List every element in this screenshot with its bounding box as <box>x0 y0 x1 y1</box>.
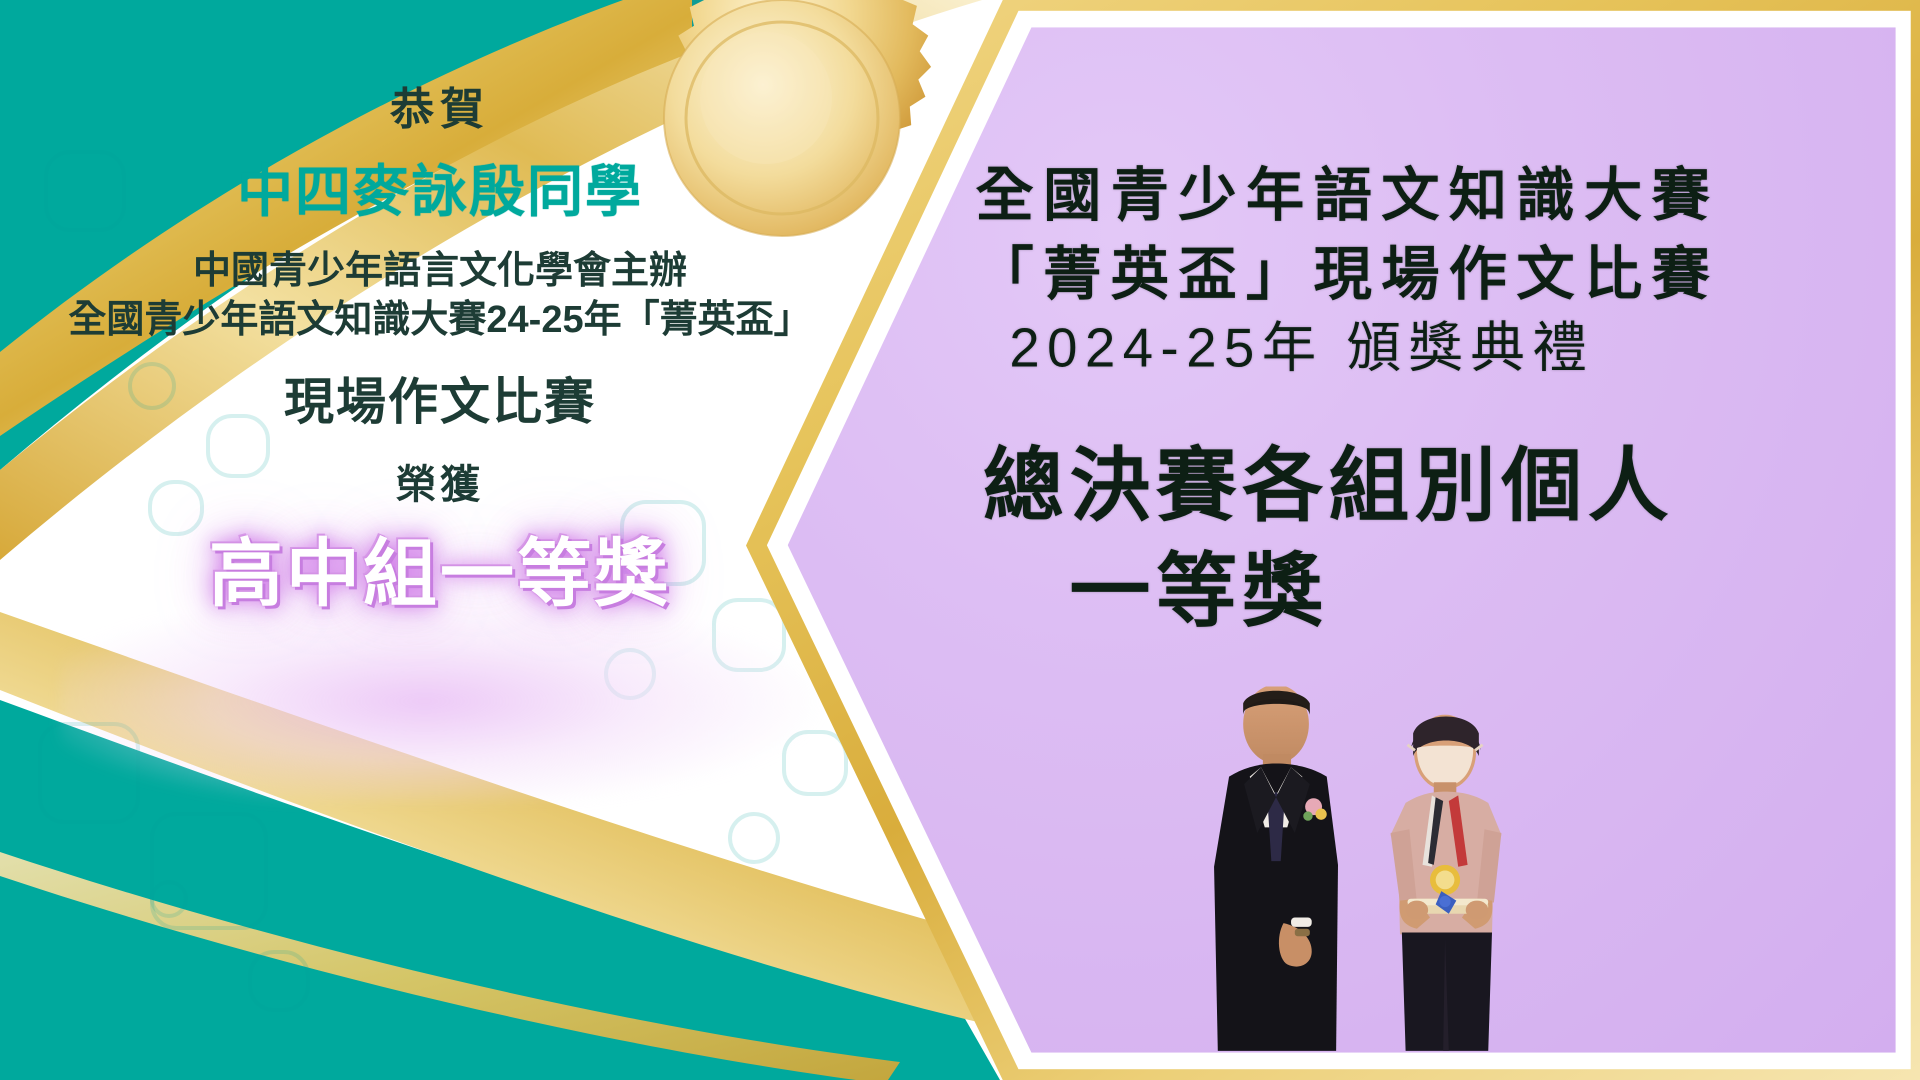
congrats-label: 恭賀 <box>390 86 490 134</box>
organizer-line: 中國青少年語言文化學會主辦 <box>193 247 687 296</box>
poster-canvas: 恭賀 中四麥詠殷同學 中國青少年語言文化學會主辦 全國青少年語文知識大賽24-2… <box>0 0 1920 1080</box>
backdrop-line-4: 總決賽各組別個人 <box>983 420 1674 537</box>
award-name: 高中組一等獎 <box>209 533 671 614</box>
award-photo-card: 全國青少年語文知識大賽 「菁英盃」現場作文比賽 2024-25年 頒獎典禮 總決… <box>746 0 1920 1080</box>
student-name: 中四麥詠殷同學 <box>237 160 643 224</box>
backdrop-line-1: 全國青少年語文知識大賽 <box>976 147 1720 232</box>
received-label: 榮獲 <box>396 463 484 507</box>
event-line: 全國青少年語文知識大賽24-25年「菁英盃」 <box>68 296 811 345</box>
backdrop-line-3: 2024-25年 頒獎典禮 <box>1009 303 1594 382</box>
backdrop-line-5: 一等獎 <box>1069 525 1328 642</box>
student-figure <box>1351 715 1543 1053</box>
contest-name: 現場作文比賽 <box>284 374 596 432</box>
presenter-figure <box>1171 686 1368 1052</box>
backdrop-line-2: 「菁英盃」現場作文比賽 <box>976 226 1720 311</box>
